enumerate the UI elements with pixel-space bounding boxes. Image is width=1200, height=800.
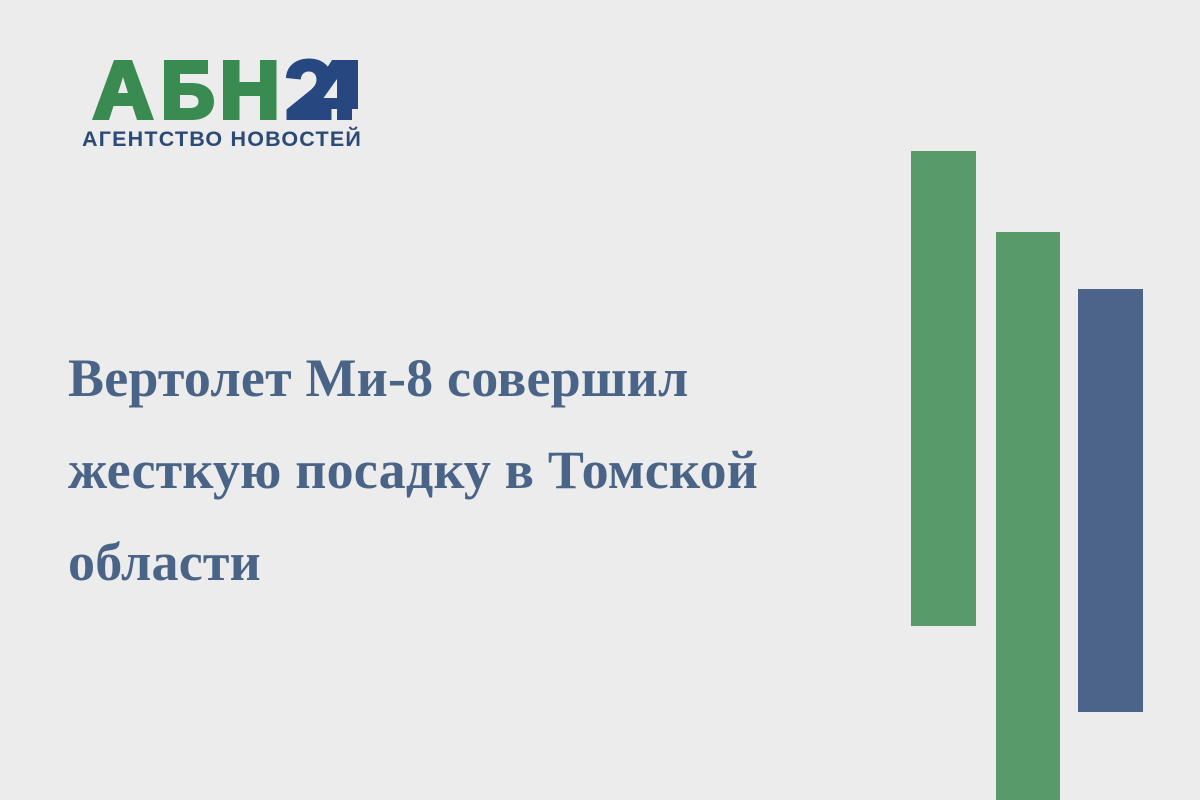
site-logo[interactable]: АГЕНТСТВО НОВОСТЕЙ: [80, 58, 380, 151]
headline-line-2: жесткую посадку в Томской: [68, 424, 888, 516]
decorative-bar-1: [911, 151, 976, 626]
logo-tagline: АГЕНТСТВО НОВОСТЕЙ: [82, 129, 380, 151]
decorative-bar-3: [1078, 289, 1143, 712]
headline-line-3: области: [68, 516, 888, 608]
decorative-bar-2: [996, 232, 1060, 800]
news-card-canvas: АГЕНТСТВО НОВОСТЕЙ Вертолет Ми-8 соверши…: [0, 0, 1200, 800]
page-title: Вертолет Ми-8 совершил жесткую посадку в…: [68, 332, 888, 608]
headline-line-1: Вертолет Ми-8 совершил: [68, 332, 888, 424]
abn24-wordmark-icon: [80, 58, 358, 120]
